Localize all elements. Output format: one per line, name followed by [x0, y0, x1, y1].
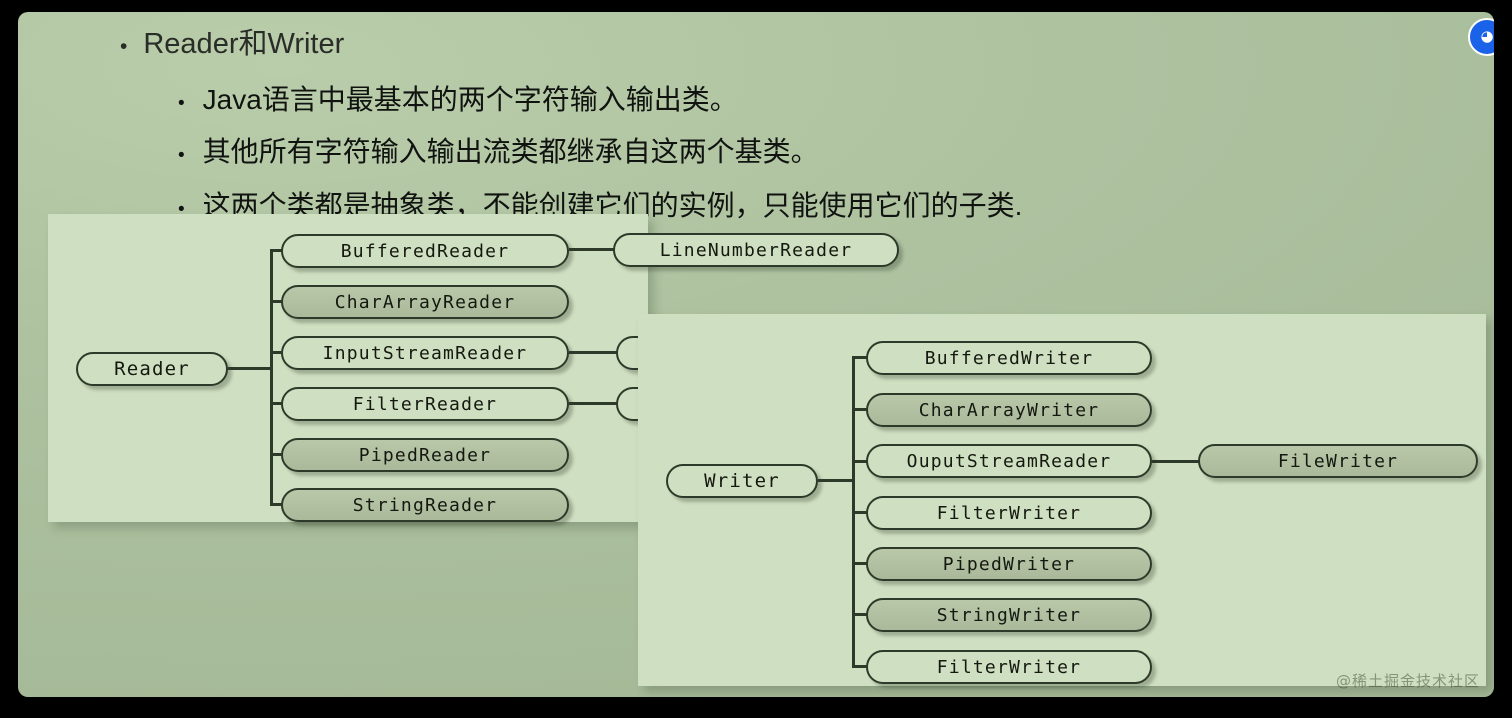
node-chararrayreader[interactable]: CharArrayReader [281, 285, 569, 319]
node-linenumberreader[interactable]: LineNumberReader [613, 233, 899, 267]
bullet-marker-icon: • [120, 36, 127, 57]
node-filterwriter-2[interactable]: FilterWriter [866, 650, 1152, 684]
node-pipedwriter[interactable]: PipedWriter [866, 547, 1152, 581]
presentation-slide: • Reader和Writer • Java语言中最基本的两个字符输入输出类。 … [18, 12, 1494, 697]
bullet-item-1: • Java语言中最基本的两个字符输入输出类。 [178, 78, 738, 118]
bullet-text-0: Reader和Writer [143, 20, 344, 62]
node-reader-root[interactable]: Reader [76, 352, 228, 386]
node-chararraywriter[interactable]: CharArrayWriter [866, 393, 1152, 427]
bullet-marker-icon: • [178, 146, 185, 165]
connector-writer-trunk [818, 479, 854, 482]
node-pipedreader[interactable]: PipedReader [281, 438, 569, 472]
screenshot-root: • Reader和Writer • Java语言中最基本的两个字符输入输出类。 … [0, 0, 1512, 718]
node-ouputstreamreader[interactable]: OuputStreamReader [866, 444, 1152, 478]
connector-ouputstreamreader-filewriter [1152, 460, 1200, 463]
node-bufferedwriter[interactable]: BufferedWriter [866, 341, 1152, 375]
node-bufferedreader[interactable]: BufferedReader [281, 234, 569, 268]
node-stringreader[interactable]: StringReader [281, 488, 569, 522]
bullet-item-0: • Reader和Writer [120, 20, 344, 62]
bullet-item-2: • 其他所有字符输入输出流类都继承自这两个基类。 [178, 130, 819, 170]
node-inputstreamreader[interactable]: InputStreamReader [281, 336, 569, 370]
bullet-text-1: Java语言中最基本的两个字符输入输出类。 [203, 78, 738, 118]
writer-hierarchy-panel: Writer BufferedWriter CharArrayWriter Ou… [638, 314, 1486, 686]
connector-bufferedreader-linenumberreader [569, 248, 615, 251]
bullet-text-2: 其他所有字符输入输出流类都继承自这两个基类。 [203, 130, 819, 170]
node-writer-root[interactable]: Writer [666, 464, 818, 498]
watermark: @稀土掘金技术社区 [1336, 670, 1480, 691]
node-stringwriter[interactable]: StringWriter [866, 598, 1152, 632]
node-filterreader[interactable]: FilterReader [281, 387, 569, 421]
node-filewriter[interactable]: FileWriter [1198, 444, 1478, 478]
clock-icon[interactable]: ◕ [1468, 18, 1494, 56]
connector-filterreader-child [569, 402, 617, 405]
connector-reader-bus [270, 250, 273, 504]
reader-hierarchy-panel: Reader BufferedReader CharArrayReader In… [48, 214, 648, 522]
bullet-marker-icon: • [178, 94, 185, 113]
connector-reader-trunk [228, 367, 272, 370]
node-filterwriter[interactable]: FilterWriter [866, 496, 1152, 530]
connector-inputstreamreader-child [569, 351, 617, 354]
